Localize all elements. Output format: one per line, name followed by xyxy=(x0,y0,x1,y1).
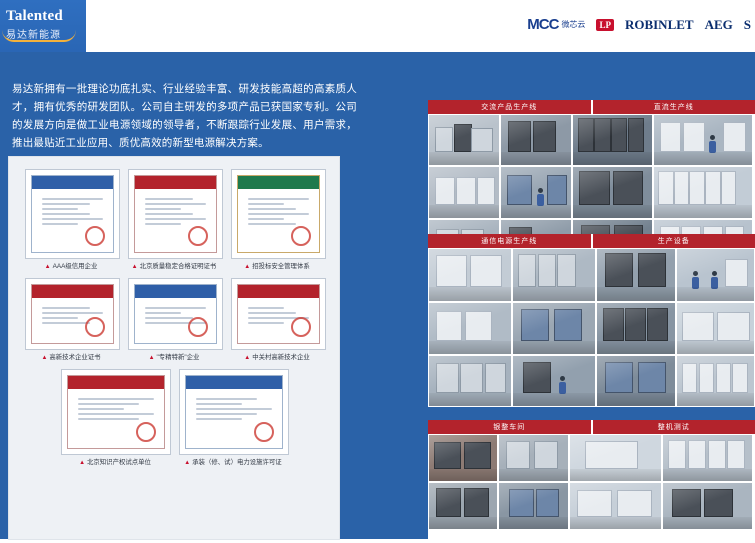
certificate-band xyxy=(186,376,282,389)
certificate-item: ▲中关村高新技术企业 xyxy=(231,278,324,363)
photo-thumbnail xyxy=(512,302,596,355)
photo-thumbnail xyxy=(500,166,572,219)
photo-thumbnail xyxy=(676,302,755,355)
certificate-item: ▲北京质量稳定合格证明证书 xyxy=(128,169,221,272)
certificate-caption: ▲承装（修、试）电力设施许可证 xyxy=(179,458,287,468)
certificate-item: ▲"专精特新"企业 xyxy=(128,278,221,363)
photo-thumbnail xyxy=(512,355,596,407)
certificate-caption: ▲北京知识产权试点单位 xyxy=(61,458,169,468)
photo-thumbnail xyxy=(428,114,500,166)
certificate-image xyxy=(128,169,223,259)
photo-block-header: 交流产品生产线 直流生产线 xyxy=(428,100,755,114)
photo-thumbnail xyxy=(498,434,569,482)
photo-grid xyxy=(428,434,755,530)
photo-block-title-testing: 整机测试 xyxy=(591,420,755,434)
certificate-caption: ▲AAA级信用企业 xyxy=(25,262,118,272)
certificate-item: ▲承装（修、试）电力设施许可证 xyxy=(179,369,287,468)
certificate-item: ▲招投标安全管理体系 xyxy=(231,169,324,272)
photo-block-title-assembly: 银整车间 xyxy=(428,420,591,434)
certificate-image xyxy=(61,369,171,455)
page-body: 易达新拥有一批理论功底扎实、行业经验丰富、研发技能高超的高素质人才，拥有优秀的研… xyxy=(0,52,755,539)
photo-block-title-equipment: 生产设备 xyxy=(591,234,755,248)
certificate-image xyxy=(25,169,120,259)
logo-swoosh-icon xyxy=(2,30,76,42)
photo-thumbnail xyxy=(569,482,662,530)
photo-block-telecom-and-equipment: 通信电源生产线 生产设备 xyxy=(428,234,755,407)
photo-thumbnail xyxy=(500,114,572,166)
logo-text-en: Talented xyxy=(6,8,63,25)
photo-thumbnail xyxy=(596,302,676,355)
certificate-band xyxy=(68,376,164,389)
photo-thumbnail xyxy=(498,482,569,530)
certificate-band xyxy=(238,176,319,189)
certificate-seal-icon xyxy=(136,422,156,442)
certificate-band xyxy=(32,176,113,189)
page-header: Talented 易达新能源 MCC 微芯云 LP ROBINLET AEG S xyxy=(0,0,755,52)
partner-brand-bar: MCC 微芯云 LP ROBINLET AEG S xyxy=(86,0,755,52)
certificate-band xyxy=(135,176,216,189)
brand-aeg: AEG xyxy=(705,17,733,33)
photo-thumbnail xyxy=(572,166,653,219)
certificate-caption: ▲高新技术企业证书 xyxy=(25,353,118,363)
brand-mcc: MCC 微芯云 xyxy=(527,16,585,33)
certificate-caption: ▲北京质量稳定合格证明证书 xyxy=(128,262,221,272)
certificate-caption: ▲"专精特新"企业 xyxy=(128,353,221,363)
certificates-grid: ▲AAA级信用企业 ▲北京质量稳定合格证明证书 xyxy=(9,169,339,474)
certificates-panel: ▲AAA级信用企业 ▲北京质量稳定合格证明证书 xyxy=(8,156,340,540)
photo-thumbnail xyxy=(428,434,498,482)
photo-block-header: 通信电源生产线 生产设备 xyxy=(428,234,755,248)
certificate-image xyxy=(179,369,289,455)
brand-lp: LP xyxy=(596,19,614,31)
certificate-seal-icon xyxy=(85,226,105,246)
certificate-seal-icon xyxy=(188,317,208,337)
certificate-row: ▲AAA级信用企业 ▲北京质量稳定合格证明证书 xyxy=(9,169,339,272)
certificate-seal-icon xyxy=(85,317,105,337)
photo-thumbnail xyxy=(512,248,596,302)
certificate-row: ▲高新技术企业证书 ▲"专精特新"企业 xyxy=(9,278,339,363)
certificate-seal-icon xyxy=(291,226,311,246)
photo-thumbnail xyxy=(569,434,662,482)
certificate-band xyxy=(135,285,216,298)
certificate-row: ▲北京知识产权试点单位 ▲承装（修、试）电力设施许可证 xyxy=(9,369,339,468)
photo-thumbnail xyxy=(428,166,500,219)
intro-paragraph: 易达新拥有一批理论功底扎实、行业经验丰富、研发技能高超的高素质人才，拥有优秀的研… xyxy=(12,80,357,152)
certificate-image xyxy=(25,278,120,350)
certificate-band xyxy=(32,285,113,298)
certificate-item: ▲北京知识产权试点单位 xyxy=(61,369,169,468)
photo-thumbnail xyxy=(428,302,512,355)
photo-block-title-dc: 直流生产线 xyxy=(591,100,755,114)
photo-grid xyxy=(428,248,755,407)
certificate-item: ▲高新技术企业证书 xyxy=(25,278,118,363)
brand-s: S xyxy=(744,17,751,33)
photo-thumbnail xyxy=(662,434,753,482)
photo-block-title-ac: 交流产品生产线 xyxy=(428,100,591,114)
photo-thumbnail xyxy=(676,248,755,302)
brand-mcc-sub: 微芯云 xyxy=(561,19,585,30)
photo-block-assembly-and-testing: 银整车间 整机测试 xyxy=(428,420,755,543)
photo-thumbnail xyxy=(653,114,753,166)
photo-thumbnail xyxy=(676,355,755,407)
certificate-seal-icon xyxy=(254,422,274,442)
photo-block-header: 银整车间 整机测试 xyxy=(428,420,755,434)
certificate-seal-icon xyxy=(188,226,208,246)
photo-thumbnail xyxy=(653,166,753,219)
photo-block-title-telecom: 通信电源生产线 xyxy=(428,234,591,248)
certificate-band xyxy=(238,285,319,298)
logo-panel: Talented 易达新能源 xyxy=(0,0,86,52)
certificate-seal-icon xyxy=(291,317,311,337)
certificate-image xyxy=(128,278,223,350)
certificate-image xyxy=(231,278,326,350)
certificate-caption: ▲中关村高新技术企业 xyxy=(231,353,324,363)
photo-thumbnail xyxy=(428,248,512,302)
photo-thumbnail xyxy=(662,482,753,530)
certificate-item: ▲AAA级信用企业 xyxy=(25,169,118,272)
photo-thumbnail xyxy=(596,248,676,302)
brand-mcc-label: MCC xyxy=(527,16,558,33)
certificate-image xyxy=(231,169,326,259)
brand-lp-label: LP xyxy=(596,19,614,31)
certificate-caption: ▲招投标安全管理体系 xyxy=(231,262,324,272)
photo-thumbnail xyxy=(428,482,498,530)
photo-thumbnail xyxy=(428,355,512,407)
brand-robinlet: ROBINLET xyxy=(625,17,694,33)
photo-thumbnail xyxy=(596,355,676,407)
photo-thumbnail xyxy=(572,114,653,166)
